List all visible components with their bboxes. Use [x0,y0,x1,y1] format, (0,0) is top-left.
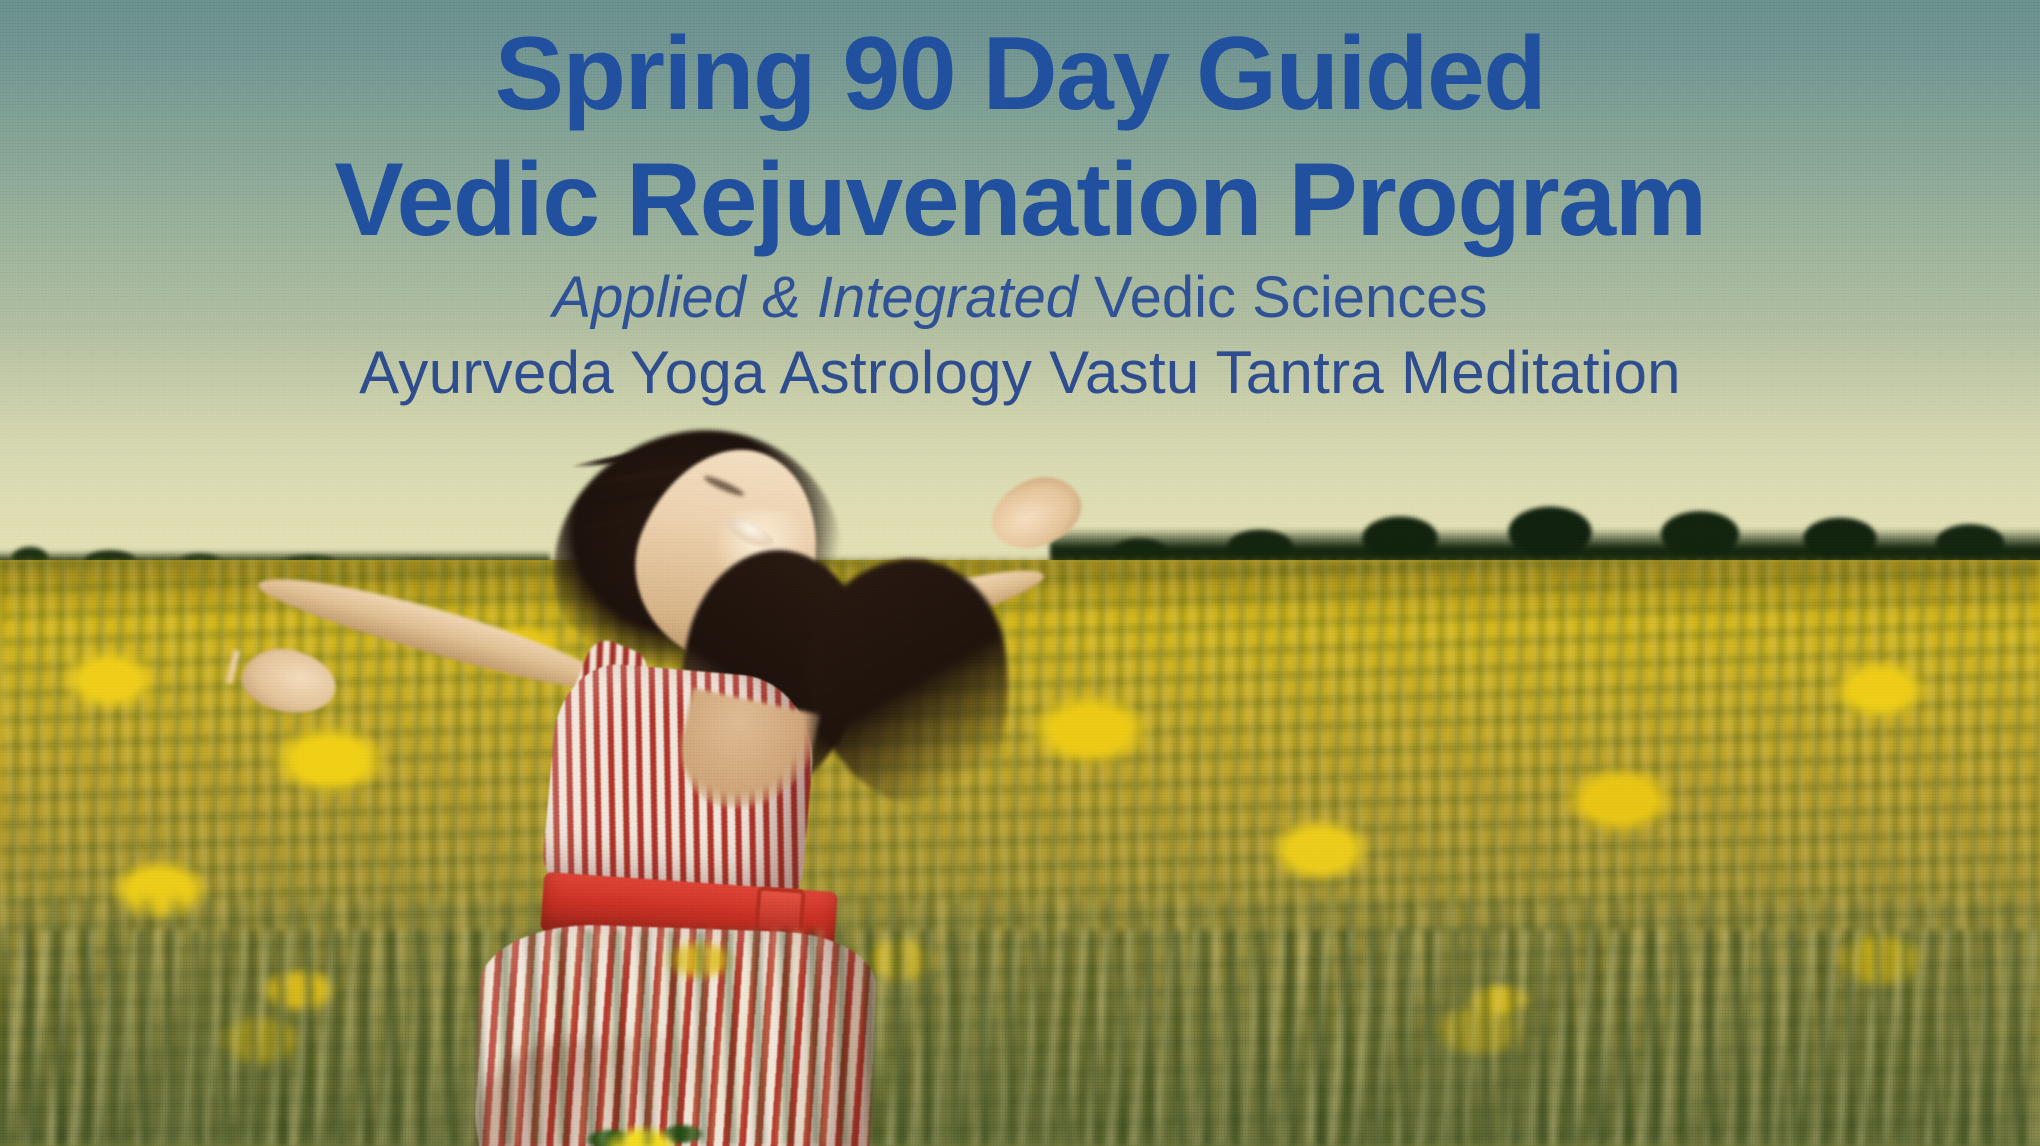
subtitle-regular-part: Vedic Sciences [1078,265,1487,330]
disciplines-line: Ayurveda Yoga Astrology Vastu Tantra Med… [0,329,2040,404]
foreground-foliage [0,930,2040,1146]
headline-line-1: Spring 90 Day Guided [0,0,2040,126]
belt-buckle [754,886,805,935]
subtitle-line: Applied & Integrated Vedic Sciences [0,252,2040,329]
left-hand [237,641,342,721]
subtitle-italic-part: Applied & Integrated [552,265,1078,330]
promotional-banner: Spring 90 Day Guided Vedic Rejuvenation … [0,0,2040,1146]
headline-line-2: Vedic Rejuvenation Program [0,126,2040,252]
banner-text-block: Spring 90 Day Guided Vedic Rejuvenation … [0,0,2040,404]
